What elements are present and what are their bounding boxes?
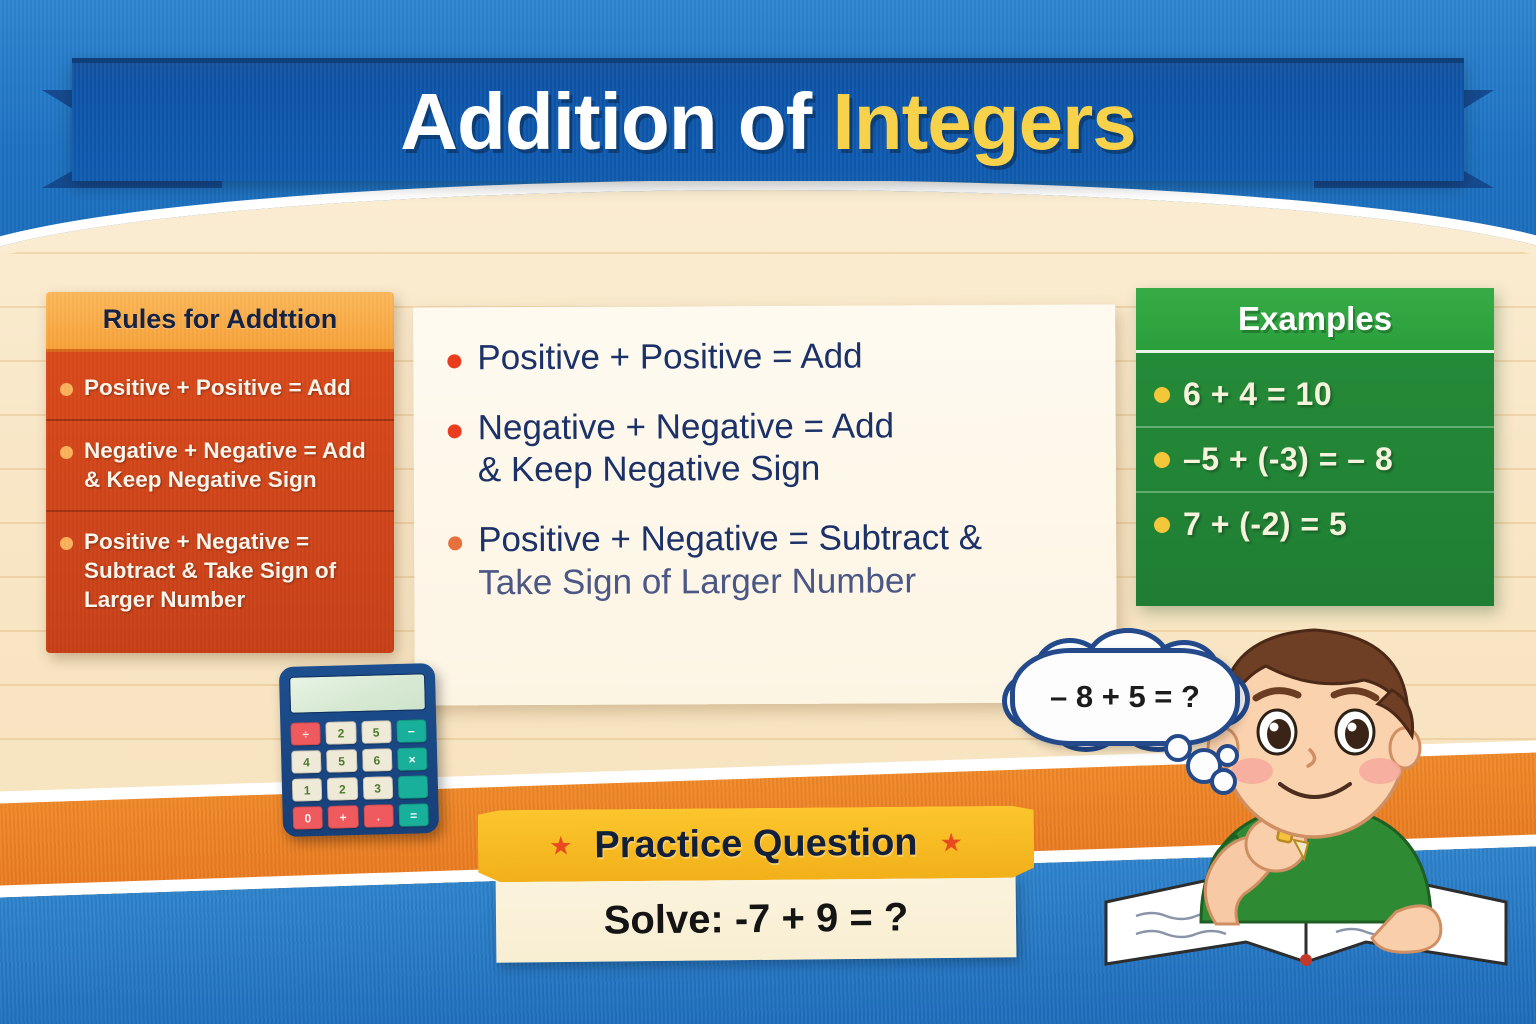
list-item: 7 + (-2) = 5 <box>1136 493 1494 556</box>
calculator-key: 4 <box>291 750 322 774</box>
bullet-dot-icon <box>448 536 462 550</box>
summary-line-1: Positive + Negative = Subtract & <box>478 518 982 559</box>
star-icon: ★ <box>549 833 573 859</box>
calculator-key: 2 <box>326 721 357 745</box>
calculator-key <box>397 775 428 799</box>
practice-question-text: Solve: -7 + 9 = ? <box>603 895 908 943</box>
calculator-key: = <box>398 803 429 827</box>
example-text: –5 + (-3) = – 8 <box>1183 441 1393 478</box>
thought-bubble: – 8 + 5 = ? <box>1010 648 1242 753</box>
list-item: –5 + (-3) = – 8 <box>1136 428 1494 493</box>
thought-bubble-text: – 8 + 5 = ? <box>1050 679 1200 715</box>
summary-text: Positive + Negative = Subtract & Take Si… <box>478 517 982 605</box>
calculator-key: × <box>397 747 428 771</box>
student-illustration <box>1096 572 1516 972</box>
calculator-illustration: ÷ 2 5 − 4 5 6 × 1 2 3 0 + . = <box>279 663 439 837</box>
bullet-dot-icon <box>1154 452 1170 468</box>
page-title: Addition of Integers <box>400 82 1136 162</box>
calculator-display <box>289 673 426 714</box>
thought-bubble-dot <box>1210 768 1237 795</box>
example-text: 6 + 4 = 10 <box>1183 376 1332 413</box>
practice-banner-title: Practice Question <box>594 821 917 867</box>
list-item: Positive + Positive = Add <box>46 358 394 421</box>
rules-panel-title: Rules for Addttion <box>56 304 384 335</box>
bullet-dot-icon <box>448 424 462 438</box>
poster-root: Addition of Integers Rules for Addttion … <box>0 0 1536 1024</box>
bullet-dot-icon <box>60 537 73 550</box>
practice-question-banner: ★ Practice Question ★ <box>478 806 1035 883</box>
rule-text: Negative + Negative = Add & Keep Negativ… <box>84 437 378 495</box>
list-item: Positive + Positive = Add <box>447 335 1081 380</box>
examples-board-header: Examples <box>1136 288 1494 353</box>
calculator-key: 5 <box>326 749 357 773</box>
bullet-dot-icon <box>1154 387 1170 403</box>
thought-bubble-dot <box>1216 744 1239 767</box>
bullet-dot-icon <box>1154 517 1170 533</box>
list-item: Negative + Negative = Add & Keep Negativ… <box>46 421 394 513</box>
examples-board: Examples 6 + 4 = 10 –5 + (-3) = – 8 7 + … <box>1136 288 1494 606</box>
bullet-dot-icon <box>60 383 73 396</box>
summary-line-2: Take Sign of Larger Number <box>478 561 916 602</box>
rules-panel: Rules for Addttion Positive + Positive =… <box>46 292 394 653</box>
calculator-key: − <box>396 719 427 743</box>
examples-board-body: 6 + 4 = 10 –5 + (-3) = – 8 7 + (-2) = 5 <box>1136 353 1494 606</box>
calculator-key: 5 <box>361 720 392 744</box>
student-svg <box>1096 572 1516 972</box>
rule-text: Positive + Positive = Add <box>84 374 351 403</box>
calculator-key: 1 <box>292 778 323 802</box>
summary-text: Positive + Positive = Add <box>477 336 862 380</box>
list-item: Negative + Negative = Add & Keep Negativ… <box>448 404 1082 492</box>
calculator-key: . <box>363 804 394 828</box>
summary-text: Negative + Negative = Add & Keep Negativ… <box>478 405 895 492</box>
bullet-dot-icon <box>60 446 73 459</box>
thought-bubble-body: – 8 + 5 = ? <box>1010 648 1240 746</box>
summary-line-1: Negative + Negative = Add <box>478 406 895 447</box>
summary-line-1: Positive + Positive = Add <box>477 337 862 378</box>
rules-panel-body: Positive + Positive = Add Negative + Neg… <box>46 352 394 653</box>
page-title-part1: Addition of <box>400 77 811 166</box>
star-icon: ★ <box>939 829 963 855</box>
example-text: 7 + (-2) = 5 <box>1183 506 1347 543</box>
list-item: Positive + Negative = Subtract & Take Si… <box>448 517 1082 605</box>
calculator-key: 2 <box>327 777 358 801</box>
calculator-key: 0 <box>292 806 323 830</box>
summary-line-2: & Keep Negative Sign <box>478 449 821 489</box>
list-item: Positive + Negative = Subtract & Take Si… <box>46 512 394 630</box>
calculator-key: 6 <box>361 748 392 772</box>
rules-panel-header: Rules for Addttion <box>46 292 394 352</box>
calculator-key: 3 <box>362 776 393 800</box>
bullet-dot-icon <box>447 354 461 368</box>
title-ribbon: Addition of Integers <box>0 28 1536 188</box>
practice-question-panel: Solve: -7 + 9 = ? <box>496 875 1017 962</box>
rules-summary-card: Positive + Positive = Add Negative + Neg… <box>413 304 1117 705</box>
examples-board-title: Examples <box>1238 300 1392 338</box>
list-item: 6 + 4 = 10 <box>1136 363 1494 428</box>
page-title-part2: Integers <box>833 77 1136 166</box>
calculator-key: + <box>328 805 359 829</box>
calculator-key: ÷ <box>290 722 321 746</box>
rule-text: Positive + Negative = Subtract & Take Si… <box>84 528 378 614</box>
calculator-keypad: ÷ 2 5 − 4 5 6 × 1 2 3 0 + . = <box>290 719 429 830</box>
ribbon-body: Addition of Integers <box>72 58 1464 181</box>
